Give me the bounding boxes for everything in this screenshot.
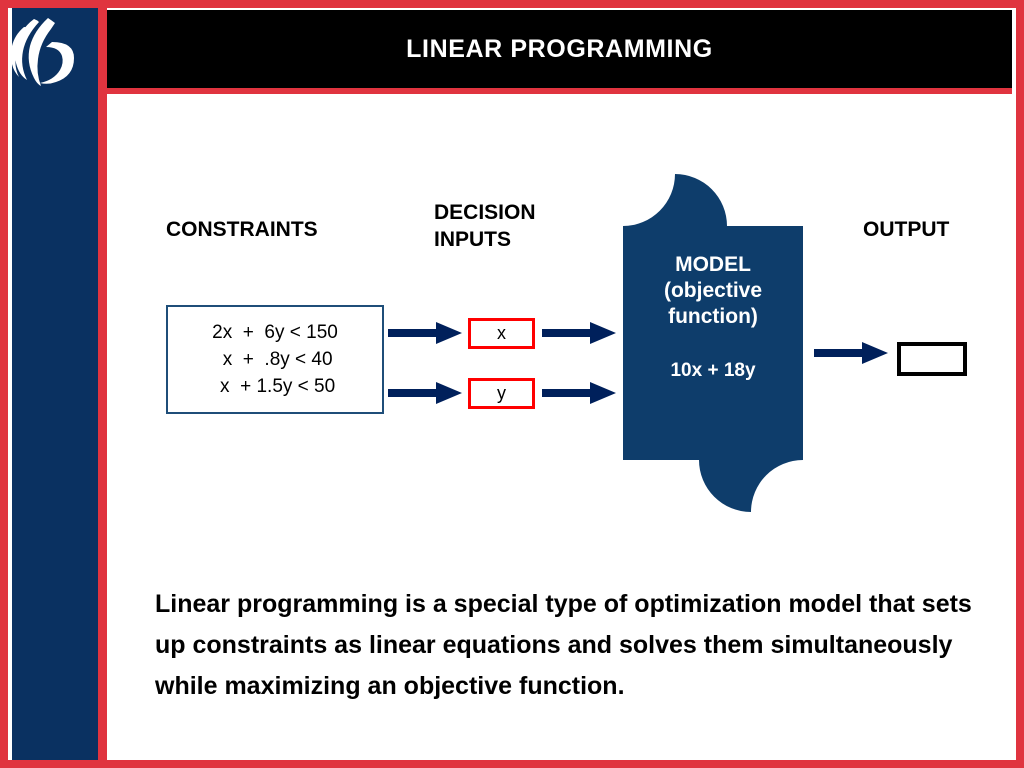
sidebar-red-edge <box>98 8 107 760</box>
label-decision-inputs: DECISION INPUTS <box>434 199 536 253</box>
model-shape <box>623 174 803 512</box>
slide-content: CONSTRAINTS DECISION INPUTS OUTPUT 2x + … <box>107 94 1012 760</box>
slide-frame-left <box>0 0 8 768</box>
body-text: Linear programming is a special type of … <box>155 584 985 707</box>
slide-frame-bottom <box>0 760 1024 768</box>
constraint-line-1: 2x + 6y < 150 <box>212 319 338 346</box>
constraint-line-2: x + .8y < 40 <box>217 346 332 373</box>
slide: LINEAR PROGRAMMING CONSTRAINTS DECISION … <box>0 0 1024 768</box>
arrow-y-to-model <box>542 382 616 404</box>
title-bar: LINEAR PROGRAMMING <box>107 10 1012 88</box>
constraint-line-3: x + 1.5y < 50 <box>215 373 335 400</box>
georgia-state-flame-logo-icon <box>12 14 86 86</box>
page-title: LINEAR PROGRAMMING <box>406 35 713 64</box>
constraints-box: 2x + 6y < 150 x + .8y < 40 x + 1.5y < 50 <box>166 305 384 414</box>
arrow-constraints-to-y <box>388 382 462 404</box>
arrow-model-to-output <box>814 342 888 364</box>
decision-input-x-value: x <box>497 323 506 344</box>
label-output: OUTPUT <box>863 216 949 243</box>
slide-frame-top <box>0 0 1024 8</box>
slide-frame-right <box>1016 0 1024 768</box>
decision-input-x[interactable]: x <box>468 318 535 349</box>
decision-input-y[interactable]: y <box>468 378 535 409</box>
decision-input-y-value: y <box>497 383 506 404</box>
output-box[interactable] <box>897 342 967 376</box>
arrow-x-to-model <box>542 322 616 344</box>
sidebar <box>12 8 98 760</box>
label-constraints: CONSTRAINTS <box>166 216 318 243</box>
arrow-constraints-to-x <box>388 322 462 344</box>
